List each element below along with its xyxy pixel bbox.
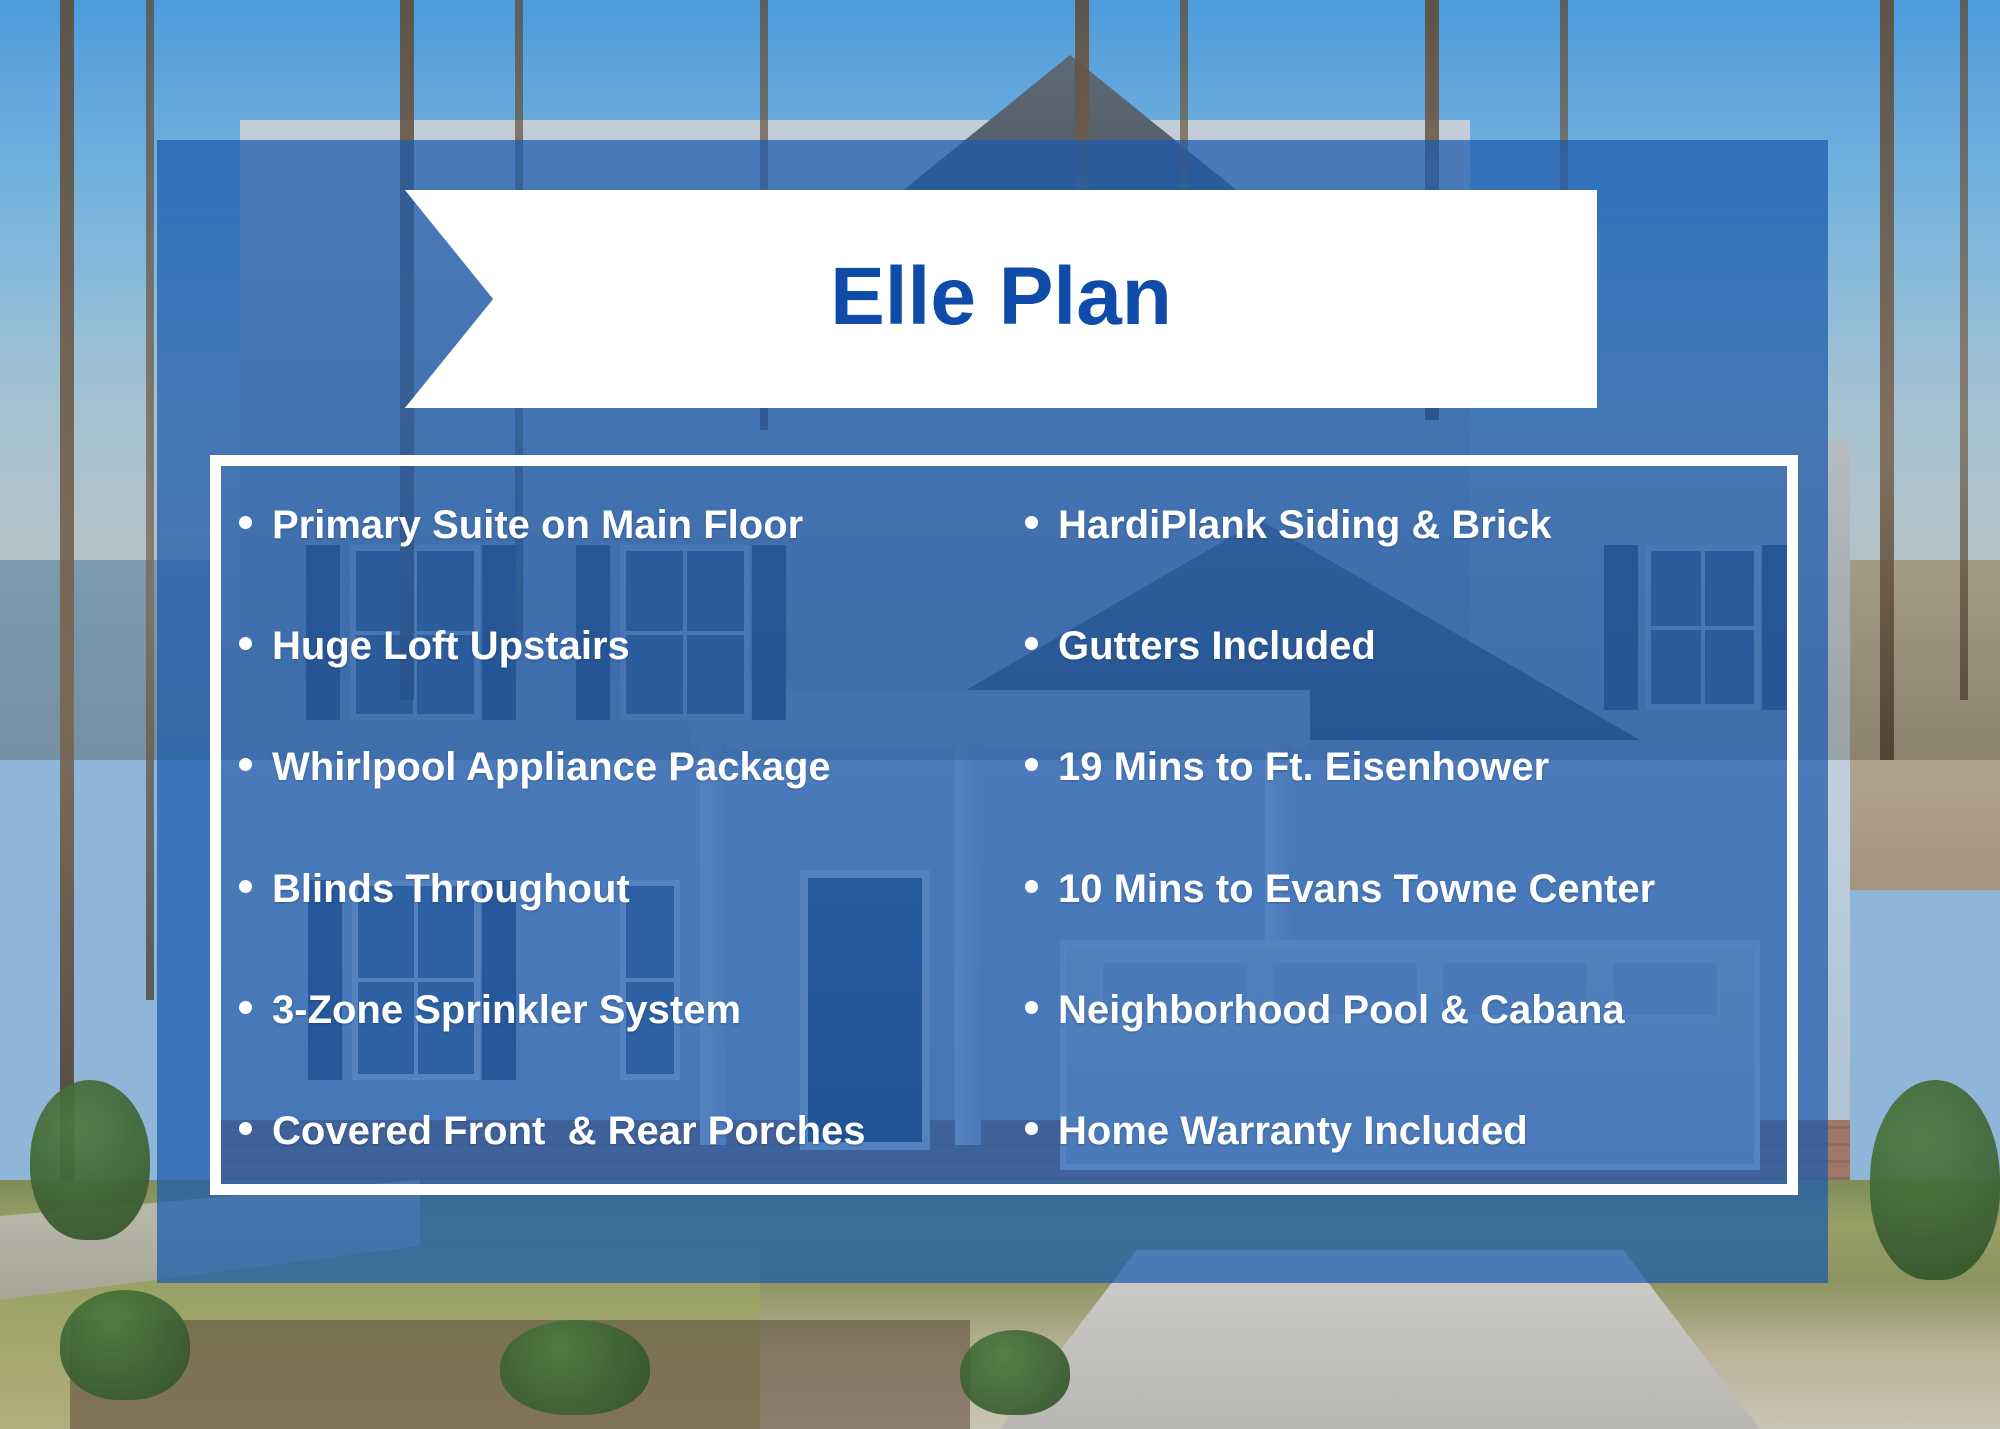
bullet-icon [1025, 516, 1038, 529]
feature-item: Huge Loft Upstairs [239, 625, 1001, 667]
tree-trunk [1880, 0, 1894, 760]
feature-item: 3-Zone Sprinkler System [239, 989, 1001, 1031]
feature-item: Blinds Throughout [239, 868, 1001, 910]
feature-label: Gutters Included [1058, 625, 1376, 667]
features-grid: Primary Suite on Main Floor Huge Loft Up… [221, 466, 1787, 1184]
tree-trunk [1960, 0, 1968, 700]
feature-item: Whirlpool Appliance Package [239, 746, 1001, 788]
shrub [60, 1290, 190, 1400]
feature-label: Blinds Throughout [272, 868, 630, 910]
feature-item: Neighborhood Pool & Cabana [1025, 989, 1773, 1031]
feature-label: Neighborhood Pool & Cabana [1058, 989, 1625, 1031]
bullet-icon [239, 880, 252, 893]
bullet-icon [239, 1122, 252, 1135]
bullet-icon [1025, 1001, 1038, 1014]
bullet-icon [1025, 1122, 1038, 1135]
poster-canvas: Elle Plan Primary Suite on Main Floor Hu… [0, 0, 2000, 1429]
feature-label: 10 Mins to Evans Towne Center [1058, 868, 1655, 910]
feature-item: 10 Mins to Evans Towne Center [1025, 868, 1773, 910]
feature-label: 19 Mins to Ft. Eisenhower [1058, 746, 1549, 788]
tree-trunk [146, 0, 154, 1000]
tree-trunk [60, 0, 74, 1180]
shrub [30, 1080, 150, 1240]
bullet-icon [239, 1001, 252, 1014]
feature-label: Covered Front & Rear Porches [272, 1110, 866, 1152]
bullet-icon [239, 637, 252, 650]
features-left-column: Primary Suite on Main Floor Huge Loft Up… [239, 504, 1001, 1152]
features-frame: Primary Suite on Main Floor Huge Loft Up… [210, 455, 1798, 1195]
shrub [1870, 1080, 2000, 1280]
bullet-icon [1025, 758, 1038, 771]
feature-label: 3-Zone Sprinkler System [272, 989, 741, 1031]
feature-item: 19 Mins to Ft. Eisenhower [1025, 746, 1773, 788]
title-ribbon: Elle Plan [405, 190, 1597, 408]
page-title: Elle Plan [830, 256, 1172, 338]
feature-label: HardiPlank Siding & Brick [1058, 504, 1551, 546]
feature-item: Home Warranty Included [1025, 1110, 1773, 1152]
feature-label: Huge Loft Upstairs [272, 625, 630, 667]
shrub [960, 1330, 1070, 1415]
bullet-icon [1025, 880, 1038, 893]
feature-item: HardiPlank Siding & Brick [1025, 504, 1773, 546]
bullet-icon [239, 516, 252, 529]
feature-label: Primary Suite on Main Floor [272, 504, 803, 546]
bullet-icon [1025, 637, 1038, 650]
feature-item: Covered Front & Rear Porches [239, 1110, 1001, 1152]
shrub [500, 1320, 650, 1415]
bullet-icon [239, 758, 252, 771]
feature-item: Primary Suite on Main Floor [239, 504, 1001, 546]
feature-label: Whirlpool Appliance Package [272, 746, 831, 788]
feature-item: Gutters Included [1025, 625, 1773, 667]
features-right-column: HardiPlank Siding & Brick Gutters Includ… [1011, 504, 1773, 1152]
feature-label: Home Warranty Included [1058, 1110, 1528, 1152]
